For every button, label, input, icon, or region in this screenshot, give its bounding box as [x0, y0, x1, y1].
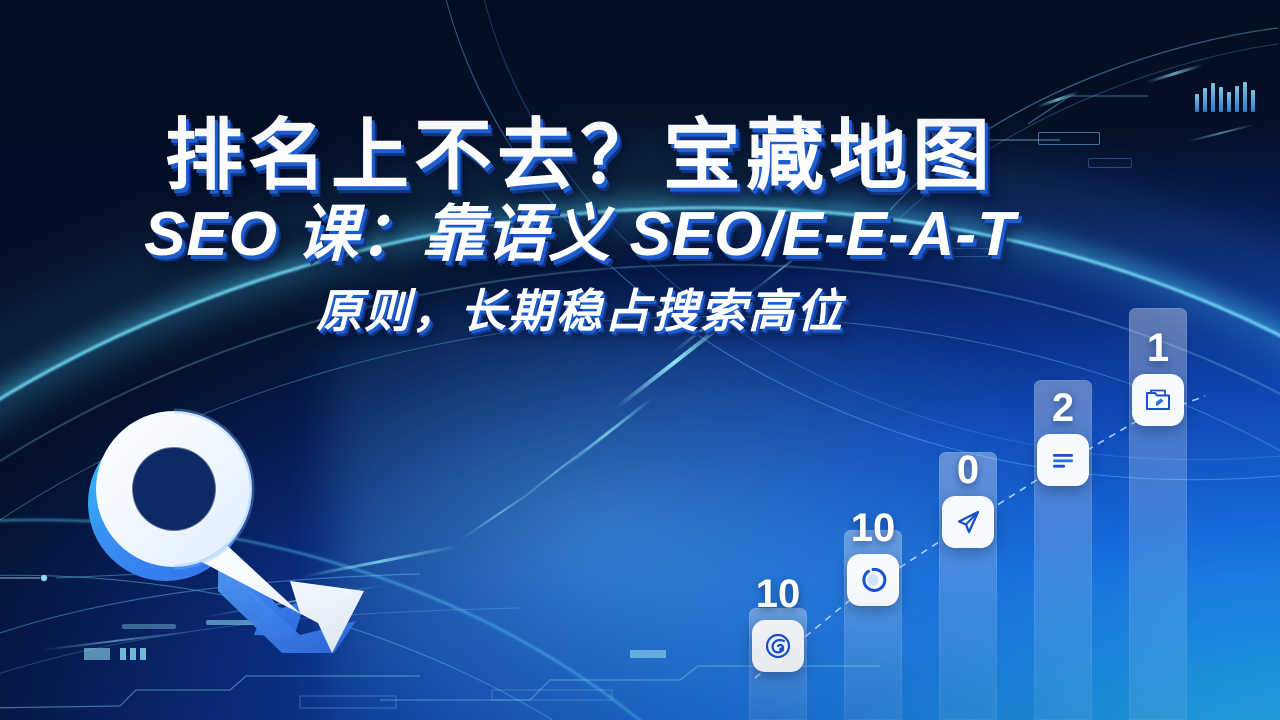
circle-icon: [847, 554, 899, 606]
title-line-2: SEO 课：靠语义 SEO/E-E-A-T: [0, 202, 1160, 267]
trend-line: [735, 300, 1280, 720]
magnifying-glass-arrow-icon: [68, 385, 398, 675]
spiral-icon: [752, 620, 804, 672]
chart-node-2: 10: [847, 554, 899, 606]
chart-label-1: 10: [756, 574, 801, 614]
title-line-1: 排名上不去？宝藏地图: [0, 116, 1160, 196]
chart-node-5: 1: [1132, 374, 1184, 426]
poster-canvas: 排名上不去？宝藏地图 SEO 课：靠语义 SEO/E-E-A-T 原则，长期稳占…: [0, 0, 1280, 720]
chart-label-2: 10: [851, 508, 896, 548]
chart-node-1: 10: [752, 620, 804, 672]
bar-chart: 10 10 0: [735, 300, 1280, 720]
chart-label-3: 0: [957, 450, 979, 490]
chart-node-3: 0: [942, 496, 994, 548]
chart-node-4: 2: [1037, 434, 1089, 486]
chart-bar: [1034, 380, 1092, 720]
send-icon: [942, 496, 994, 548]
title-line-3: 原则，长期稳占搜索高位: [0, 275, 1160, 341]
chart-label-4: 2: [1052, 388, 1074, 428]
headline-block: 排名上不去？宝藏地图 SEO 课：靠语义 SEO/E-E-A-T 原则，长期稳占…: [0, 116, 1160, 341]
folder-edit-icon: [1132, 374, 1184, 426]
document-lines-icon: [1037, 434, 1089, 486]
chart-bar: [939, 452, 997, 720]
